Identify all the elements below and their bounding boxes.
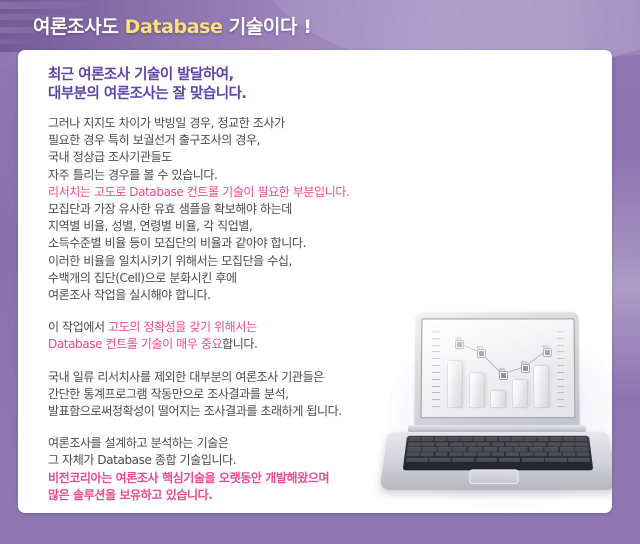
paragraph-line: 지역별 비율, 성별, 연령별 비율, 각 직업별, <box>48 218 448 235</box>
paragraph-line: 소득수준별 비율 등이 모집단의 비율과 같아야 합니다. <box>48 235 448 252</box>
paragraph-line: 국내 일류 리서치사를 제외한 대부분의 여론조사 기관들은 <box>48 369 448 386</box>
paragraph-line: 이 작업에서 고도의 정확성을 갖기 위해서는 <box>48 319 448 336</box>
line-segment-dark: 합니다. <box>222 337 257 351</box>
paragraph-line: 수백개의 집단(Cell)으로 분화시킨 후에 <box>48 270 448 287</box>
highlight-line-1: 리서치는 고도로 Database 컨트롤 기술이 필요한 부분입니다. <box>48 184 448 201</box>
lead-line: 대부분의 여론조사는 잘 맞습니다. <box>48 85 448 104</box>
paragraph-line: 국내 정상급 조사기관들도 <box>48 149 448 166</box>
paragraph-line: Database 컨트롤 기술이 매우 중요합니다. <box>48 336 448 353</box>
content-card: 78% 66% 36% 45% 65% <box>18 50 612 513</box>
closing-line: 많은 솔루션을 보유하고 있습니다. <box>48 487 448 504</box>
paragraph-block-3: 이 작업에서 고도의 정확성을 갖기 위해서는 Database 컨트롤 기술이… <box>48 319 448 353</box>
laptop-trackpad <box>469 469 519 484</box>
header-streak <box>0 39 42 44</box>
paragraph-line: 필요한 경우 특히 보궐선거 출구조사의 경우, <box>48 132 448 149</box>
closing-line: 비전코리아는 여론조사 핵심기술을 오랫동안 개발해왔으며 <box>48 470 448 487</box>
title-suffix: 기술이다 ! <box>223 16 312 38</box>
right-sheen-band <box>612 150 640 400</box>
line-segment-pink: 고도의 정확성을 갖기 위해서는 <box>108 320 257 334</box>
paragraph-spacer <box>48 354 448 369</box>
slide-root: 여론조사도 Database 기술이다 ! <box>0 0 640 544</box>
header-streak <box>0 2 98 9</box>
paragraph-block-4: 국내 일류 리서치사를 제외한 대부분의 여론조사 기관들은 간단한 통계프로그… <box>48 369 448 421</box>
paragraph-block-1: 그러나 지지도 차이가 박빙일 경우, 정교한 조사가 필요한 경우 특히 보궐… <box>48 115 448 304</box>
page-title: 여론조사도 Database 기술이다 ! <box>33 12 312 39</box>
paragraph-line: 그러나 지지도 차이가 박빙일 경우, 정교한 조사가 <box>48 115 448 132</box>
paragraph-spacer <box>48 304 448 319</box>
title-prefix: 여론조사도 <box>33 16 125 38</box>
paragraph-line: 여론조사 작업을 실시해야 합니다. <box>48 287 448 304</box>
lead-paragraph: 최근 여론조사 기술이 발달하여, 대부분의 여론조사는 잘 맞습니다. <box>48 66 448 104</box>
paragraph-line: 간단한 통계프로그램 작동만으로 조사결과를 분석, <box>48 386 448 403</box>
body-copy: 최근 여론조사 기술이 발달하여, 대부분의 여론조사는 잘 맞습니다. 그러나… <box>48 66 448 504</box>
line-segment-pink: Database 컨트롤 기술이 매우 중요 <box>48 337 222 351</box>
paragraph-line: 발표함으로써정확성이 떨어지는 조사결과를 초래하게 됩니다. <box>48 403 448 420</box>
paragraph-line: 이러한 비율을 일치시키기 위해서는 모집단을 수십, <box>48 253 448 270</box>
paragraph-line: 그 자체가 Database 종합 기술입니다. <box>48 452 448 469</box>
line-segment-dark: 이 작업에서 <box>48 320 108 334</box>
lead-line: 최근 여론조사 기술이 발달하여, <box>48 66 448 85</box>
paragraph-spacer <box>48 420 448 435</box>
paragraph-line: 여론조사를 설계하고 분석하는 기술은 <box>48 435 448 452</box>
paragraph-line: 모집단과 가장 유사한 유효 샘플을 확보해야 하는데 <box>48 201 448 218</box>
paragraph-block-5: 여론조사를 설계하고 분석하는 기술은 그 자체가 Database 종합 기술… <box>48 435 448 504</box>
paragraph-line: 자주 틀리는 경우를 볼 수 있습니다. <box>48 167 448 184</box>
title-keyword: Database <box>125 16 223 38</box>
